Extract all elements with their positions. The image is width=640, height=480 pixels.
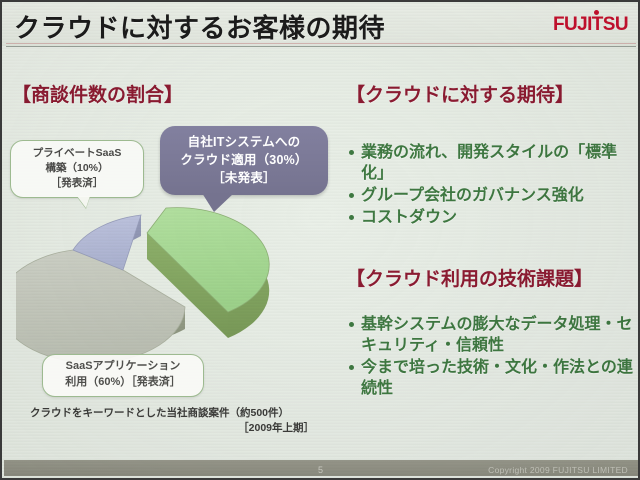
list-item: 業務の流れ、開発スタイルの「標準化」 <box>348 142 640 184</box>
logo-dot-icon <box>594 10 599 15</box>
section-heading-expectations: 【クラウドに対する期待】 <box>346 80 574 107</box>
chart-label-private-saas: プライベートSaaS 構築（10%） ［発表済］ <box>10 140 144 198</box>
chart-label-saas-application: SaaSアプリケーション 利用（60%）［発表済］ <box>42 354 204 397</box>
chart-label-own-it-system: 自社ITシステムへの クラウド適用（30%） ［未発表］ <box>160 126 328 195</box>
list-item: 今まで培った技術・文化・作法との連続性 <box>348 357 640 399</box>
label-private-line3: ［発表済］ <box>15 176 139 191</box>
footnote-line1: クラウドをキーワードとした当社商談案件（約500件） <box>30 407 289 419</box>
chart-footnote: クラウドをキーワードとした当社商談案件（約500件） ［2009年上期］ <box>30 406 320 436</box>
footnote-line2: ［2009年上期］ <box>30 421 320 436</box>
label-own-line3: ［未発表］ <box>166 169 322 187</box>
callout-tail-own-it <box>202 193 234 212</box>
label-own-line1: 自社ITシステムへの <box>166 133 322 151</box>
fujitsu-logo: FUJITSU <box>553 14 628 36</box>
callout-tail-private <box>77 196 90 208</box>
label-saas-line2: 利用（60%）［発表済］ <box>47 375 199 391</box>
copyright-notice: Copyright 2009 FUJITSU LIMITED <box>488 465 628 475</box>
technical-issues-bullet-list: 基幹システムの膨大なデータ処理・セキュリティ・信頼性 今まで培った技術・文化・作… <box>348 314 640 400</box>
presentation-slide: クラウドに対するお客様の期待 FUJITSU 【商談件数の割合】 <box>0 0 640 480</box>
expectations-bullet-list: 業務の流れ、開発スタイルの「標準化」 グループ会社のガバナンス強化 コストダウン <box>348 142 640 229</box>
section-heading-deal-ratio: 【商談件数の割合】 <box>12 80 183 107</box>
label-private-line1: プライベートSaaS <box>15 146 139 161</box>
list-item: コストダウン <box>348 207 640 228</box>
title-underline-accent <box>6 43 636 44</box>
label-saas-line1: SaaSアプリケーション <box>47 359 199 375</box>
list-item: 基幹システムの膨大なデータ処理・セキュリティ・信頼性 <box>348 314 640 356</box>
slide-title-bar: クラウドに対するお客様の期待 FUJITSU <box>2 4 638 46</box>
page-number: 5 <box>318 465 323 475</box>
label-own-line2: クラウド適用（30%） <box>166 151 322 169</box>
page-title: クラウドに対するお客様の期待 <box>14 8 385 45</box>
logo-text: FUJITSU <box>553 14 628 35</box>
title-underline <box>6 46 636 47</box>
list-item: グループ会社のガバナンス強化 <box>348 185 640 206</box>
section-heading-technical-issues: 【クラウド利用の技術課題】 <box>346 264 593 291</box>
label-private-line2: 構築（10%） <box>15 161 139 176</box>
